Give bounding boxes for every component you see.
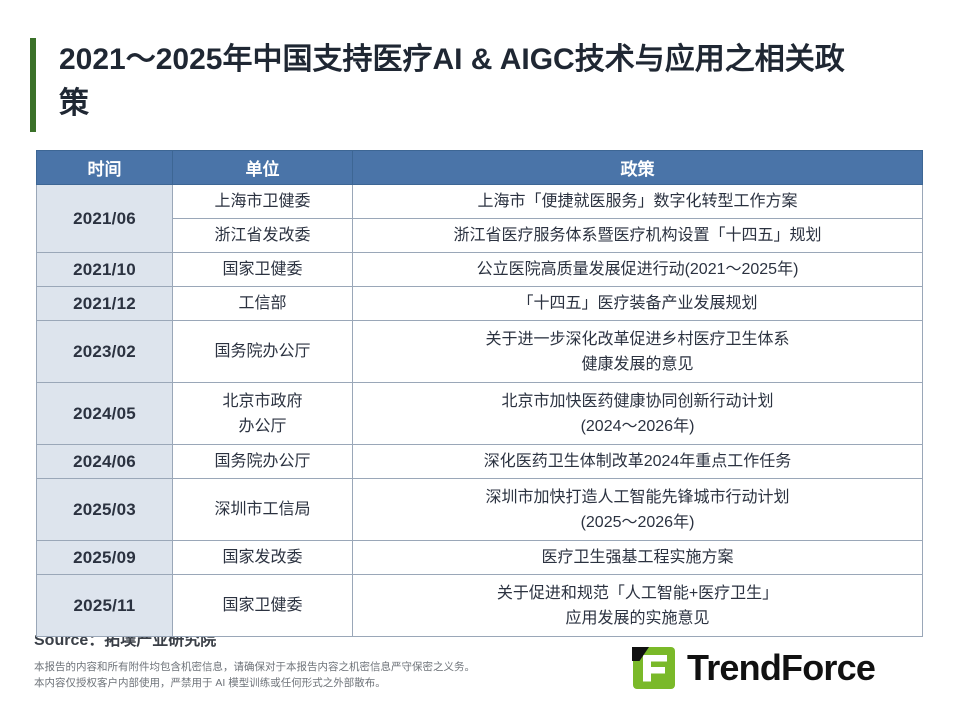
policy-table: 时间 单位 政策 2021/06上海市卫健委上海市「便捷就医服务」数字化转型工作… [36,150,923,637]
cell-unit: 国务院办公厅 [173,445,353,479]
cell-time: 2021/12 [37,287,173,321]
cell-policy-line: (2025～2026年) [353,510,922,535]
cell-policy: 上海市「便捷就医服务」数字化转型工作方案 [353,185,923,219]
cell-policy-line: 浙江省医疗服务体系暨医疗机构设置「十四五」规划 [353,223,922,248]
table-row: 2021/06上海市卫健委上海市「便捷就医服务」数字化转型工作方案 [37,185,923,219]
cell-unit-line: 浙江省发改委 [173,223,352,248]
cell-unit-line: 国务院办公厅 [173,339,352,364]
title-accent-bar [30,38,36,132]
cell-time: 2021/06 [37,185,173,253]
table-row: 2023/02国务院办公厅关于进一步深化改革促进乡村医疗卫生体系健康发展的意见 [37,321,923,383]
cell-policy-line: 关于促进和规范「人工智能+医疗卫生」 [353,581,922,606]
cell-policy-line: 应用发展的实施意见 [353,606,922,631]
cell-time: 2025/11 [37,575,173,637]
cell-unit: 上海市卫健委 [173,185,353,219]
table-row: 2024/05北京市政府办公厅北京市加快医药健康协同创新行动计划(2024～20… [37,383,923,445]
cell-policy-line: 健康发展的意见 [353,352,922,377]
cell-policy-line: (2024～2026年) [353,414,922,439]
table-row: 2024/06国务院办公厅深化医药卫生体制改革2024年重点工作任务 [37,445,923,479]
table-header: 时间 单位 政策 [37,151,923,185]
cell-policy: 医疗卫生强基工程实施方案 [353,541,923,575]
table-header-row: 时间 单位 政策 [37,151,923,185]
trendforce-logo-text: TrendForce [687,645,875,691]
cell-policy-line: 深圳市加快打造人工智能先锋城市行动计划 [353,485,922,510]
column-header-unit: 单位 [173,151,353,185]
table-body: 2021/06上海市卫健委上海市「便捷就医服务」数字化转型工作方案浙江省发改委浙… [37,185,923,637]
cell-unit: 国务院办公厅 [173,321,353,383]
table-row: 2025/11国家卫健委关于促进和规范「人工智能+医疗卫生」应用发展的实施意见 [37,575,923,637]
cell-policy: 关于进一步深化改革促进乡村医疗卫生体系健康发展的意见 [353,321,923,383]
cell-unit-line: 上海市卫健委 [173,189,352,214]
trendforce-logo-mark-icon [632,645,678,691]
cell-policy-line: 「十四五」医疗装备产业发展规划 [353,291,922,316]
cell-unit: 工信部 [173,287,353,321]
cell-time: 2021/10 [37,253,173,287]
cell-unit: 国家卫健委 [173,575,353,637]
cell-policy: 浙江省医疗服务体系暨医疗机构设置「十四五」规划 [353,219,923,253]
table-row: 2025/03深圳市工信局深圳市加快打造人工智能先锋城市行动计划(2025～20… [37,479,923,541]
title-block: 2021～2025年中国支持医疗AI & AIGC技术与应用之相关政策 [30,38,910,132]
cell-unit-line: 办公厅 [173,414,352,439]
cell-time: 2023/02 [37,321,173,383]
cell-time: 2024/05 [37,383,173,445]
cell-policy-line: 北京市加快医药健康协同创新行动计划 [353,389,922,414]
table-row: 2021/12工信部「十四五」医疗装备产业发展规划 [37,287,923,321]
cell-time: 2025/03 [37,479,173,541]
cell-policy: 深圳市加快打造人工智能先锋城市行动计划(2025～2026年) [353,479,923,541]
column-header-time: 时间 [37,151,173,185]
cell-unit-line: 国家发改委 [173,545,352,570]
page-title: 2021～2025年中国支持医疗AI & AIGC技术与应用之相关政策 [59,38,849,126]
cell-policy-line: 深化医药卫生体制改革2024年重点工作任务 [353,449,922,474]
cell-policy: 「十四五」医疗装备产业发展规划 [353,287,923,321]
cell-policy-line: 医疗卫生强基工程实施方案 [353,545,922,570]
cell-policy-line: 公立医院高质量发展促进行动(2021～2025年) [353,257,922,282]
cell-unit: 浙江省发改委 [173,219,353,253]
cell-unit-line: 工信部 [173,291,352,316]
cell-unit-line: 国务院办公厅 [173,449,352,474]
cell-unit: 国家卫健委 [173,253,353,287]
cell-policy: 公立医院高质量发展促进行动(2021～2025年) [353,253,923,287]
cell-time: 2024/06 [37,445,173,479]
column-header-policy: 政策 [353,151,923,185]
cell-unit-line: 国家卫健委 [173,593,352,618]
cell-time: 2025/09 [37,541,173,575]
table-row: 2021/10国家卫健委公立医院高质量发展促进行动(2021～2025年) [37,253,923,287]
cell-unit: 北京市政府办公厅 [173,383,353,445]
cell-policy-line: 上海市「便捷就医服务」数字化转型工作方案 [353,189,922,214]
cell-unit-line: 国家卫健委 [173,257,352,282]
trendforce-logo: TrendForce [632,645,875,691]
table-row: 2025/09国家发改委医疗卫生强基工程实施方案 [37,541,923,575]
cell-policy-line: 关于进一步深化改革促进乡村医疗卫生体系 [353,327,922,352]
cell-policy: 北京市加快医药健康协同创新行动计划(2024～2026年) [353,383,923,445]
cell-unit-line: 北京市政府 [173,389,352,414]
cell-unit: 深圳市工信局 [173,479,353,541]
cell-unit-line: 深圳市工信局 [173,497,352,522]
cell-policy: 关于促进和规范「人工智能+医疗卫生」应用发展的实施意见 [353,575,923,637]
policy-table-container: 时间 单位 政策 2021/06上海市卫健委上海市「便捷就医服务」数字化转型工作… [36,150,922,637]
cell-unit: 国家发改委 [173,541,353,575]
cell-policy: 深化医药卫生体制改革2024年重点工作任务 [353,445,923,479]
